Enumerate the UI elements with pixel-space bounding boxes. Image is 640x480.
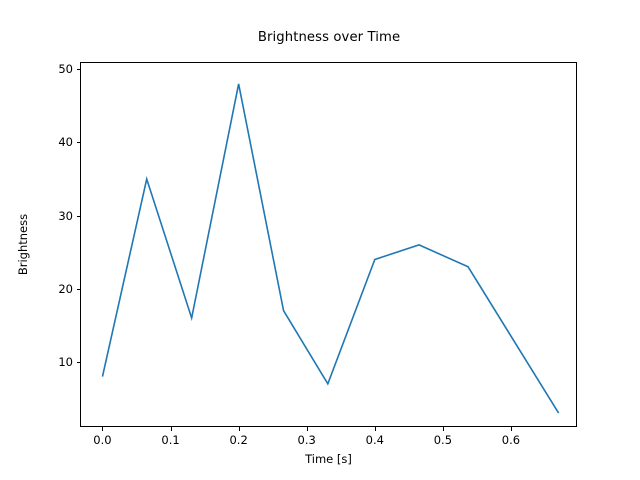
y-tick-label: 50	[58, 62, 73, 76]
y-axis-label: Brightness	[16, 62, 32, 427]
x-tick-mark	[307, 427, 308, 431]
x-tick-label: 0.6	[502, 433, 520, 447]
y-tick-mark	[77, 289, 81, 290]
x-axis-tick-labels: 0.00.10.20.30.40.50.6	[80, 433, 577, 449]
x-tick-mark	[239, 427, 240, 431]
x-tick-mark	[102, 427, 103, 431]
y-tick-label: 40	[58, 135, 73, 149]
x-tick-label: 0.0	[93, 433, 111, 447]
plot-axes	[80, 62, 577, 427]
brightness-line-series	[102, 84, 558, 413]
y-tick-label: 30	[58, 209, 73, 223]
y-tick-mark	[77, 142, 81, 143]
x-tick-mark	[443, 427, 444, 431]
x-tick-label: 0.4	[366, 433, 384, 447]
y-tick-mark	[77, 362, 81, 363]
y-tick-mark	[77, 216, 81, 217]
y-tick-mark	[77, 69, 81, 70]
x-tick-label: 0.2	[229, 433, 247, 447]
y-tick-label: 20	[58, 282, 73, 296]
x-tick-label: 0.3	[298, 433, 316, 447]
y-tick-label: 10	[58, 355, 73, 369]
matplotlib-figure: Brightness over Time Brightness 10203040…	[0, 0, 640, 480]
x-axis-label: Time [s]	[80, 452, 577, 466]
x-tick-mark	[171, 427, 172, 431]
x-tick-mark	[375, 427, 376, 431]
x-tick-label: 0.1	[161, 433, 179, 447]
y-axis-tick-labels: 1020304050	[38, 62, 73, 427]
data-line-chart	[80, 62, 577, 427]
x-tick-mark	[511, 427, 512, 431]
chart-title: Brightness over Time	[80, 30, 578, 45]
x-tick-label: 0.5	[434, 433, 452, 447]
